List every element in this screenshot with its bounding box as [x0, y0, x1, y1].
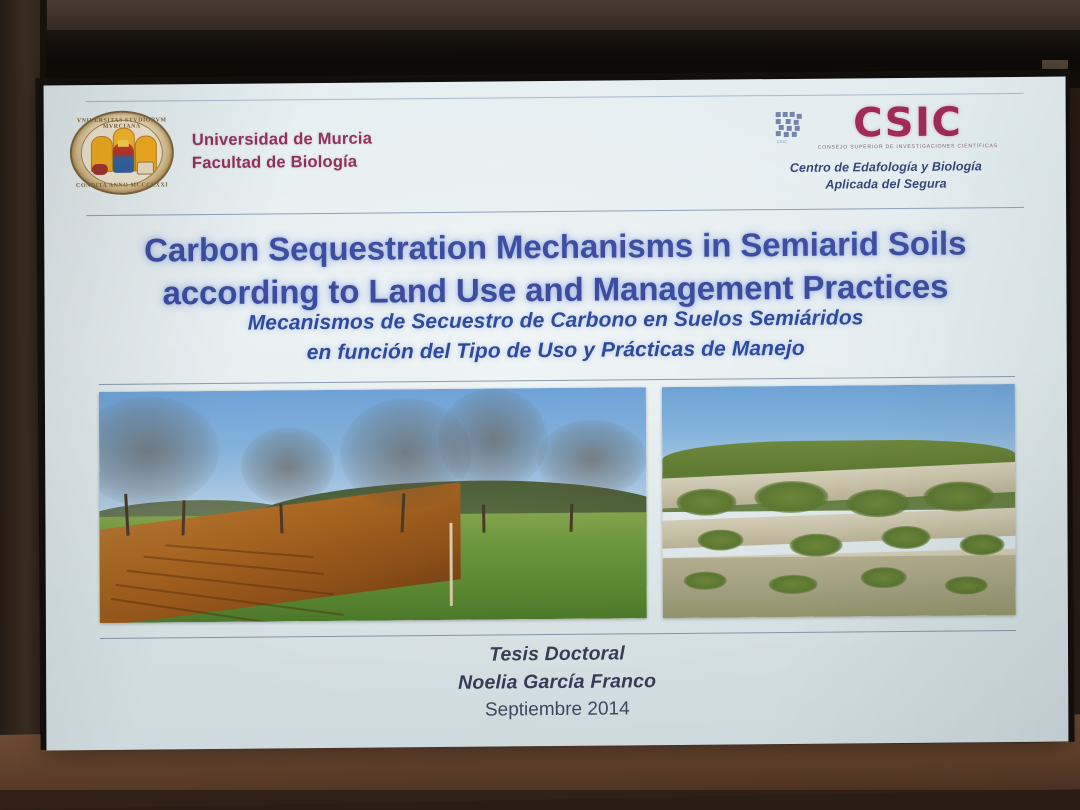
csic-logo-icon: CSIC	[774, 110, 808, 144]
almond-orchard-photo	[99, 387, 647, 623]
seal-legend-bottom: CONDITA ANNO MCCCLXXI	[70, 182, 174, 189]
university-of-murcia-seal-icon: VNIVERSITAS STVDIORVM MVRCIANA CONDITA A…	[70, 110, 174, 195]
wall-highlight-strip	[1042, 60, 1068, 69]
projection-room: VNIVERSITAS STVDIORVM MVRCIANA CONDITA A…	[0, 0, 1080, 810]
csic-center-line-2: Aplicada del Segura	[736, 174, 1036, 193]
photo-row	[99, 384, 1016, 623]
university-name: Universidad de Murcia	[192, 127, 372, 152]
csic-block: CSIC CSIC Consejo Superior de Investigac…	[736, 103, 1036, 194]
slide-subtitle: Mecanismos de Secuestro de Carbono en Su…	[45, 302, 1067, 371]
csic-wordmark: CSIC	[818, 103, 998, 143]
slide-footer: Tesis Doctoral Noelia García Franco Sept…	[46, 637, 1068, 729]
presentation-slide: VNIVERSITAS STVDIORVM MVRCIANA CONDITA A…	[44, 77, 1069, 751]
seal-legend-top: VNIVERSITAS STVDIORVM MVRCIANA	[70, 117, 174, 130]
photos-top-rule	[99, 376, 1015, 385]
university-text-block: Universidad de Murcia Facultad de Biolog…	[192, 127, 372, 175]
slide-header: VNIVERSITAS STVDIORVM MVRCIANA CONDITA A…	[44, 101, 1066, 218]
lower-wall-shadow	[0, 790, 1080, 810]
csic-center-name: Centro de Edafología y Biología Aplicada…	[736, 158, 1036, 194]
university-of-murcia-block: VNIVERSITAS STVDIORVM MVRCIANA CONDITA A…	[70, 109, 373, 196]
semiarid-scrubland-photo	[662, 384, 1016, 618]
faculty-name: Facultad de Biología	[192, 151, 372, 176]
csic-wordmark-subtitle: Consejo Superior de Investigaciones Cien…	[818, 143, 998, 151]
